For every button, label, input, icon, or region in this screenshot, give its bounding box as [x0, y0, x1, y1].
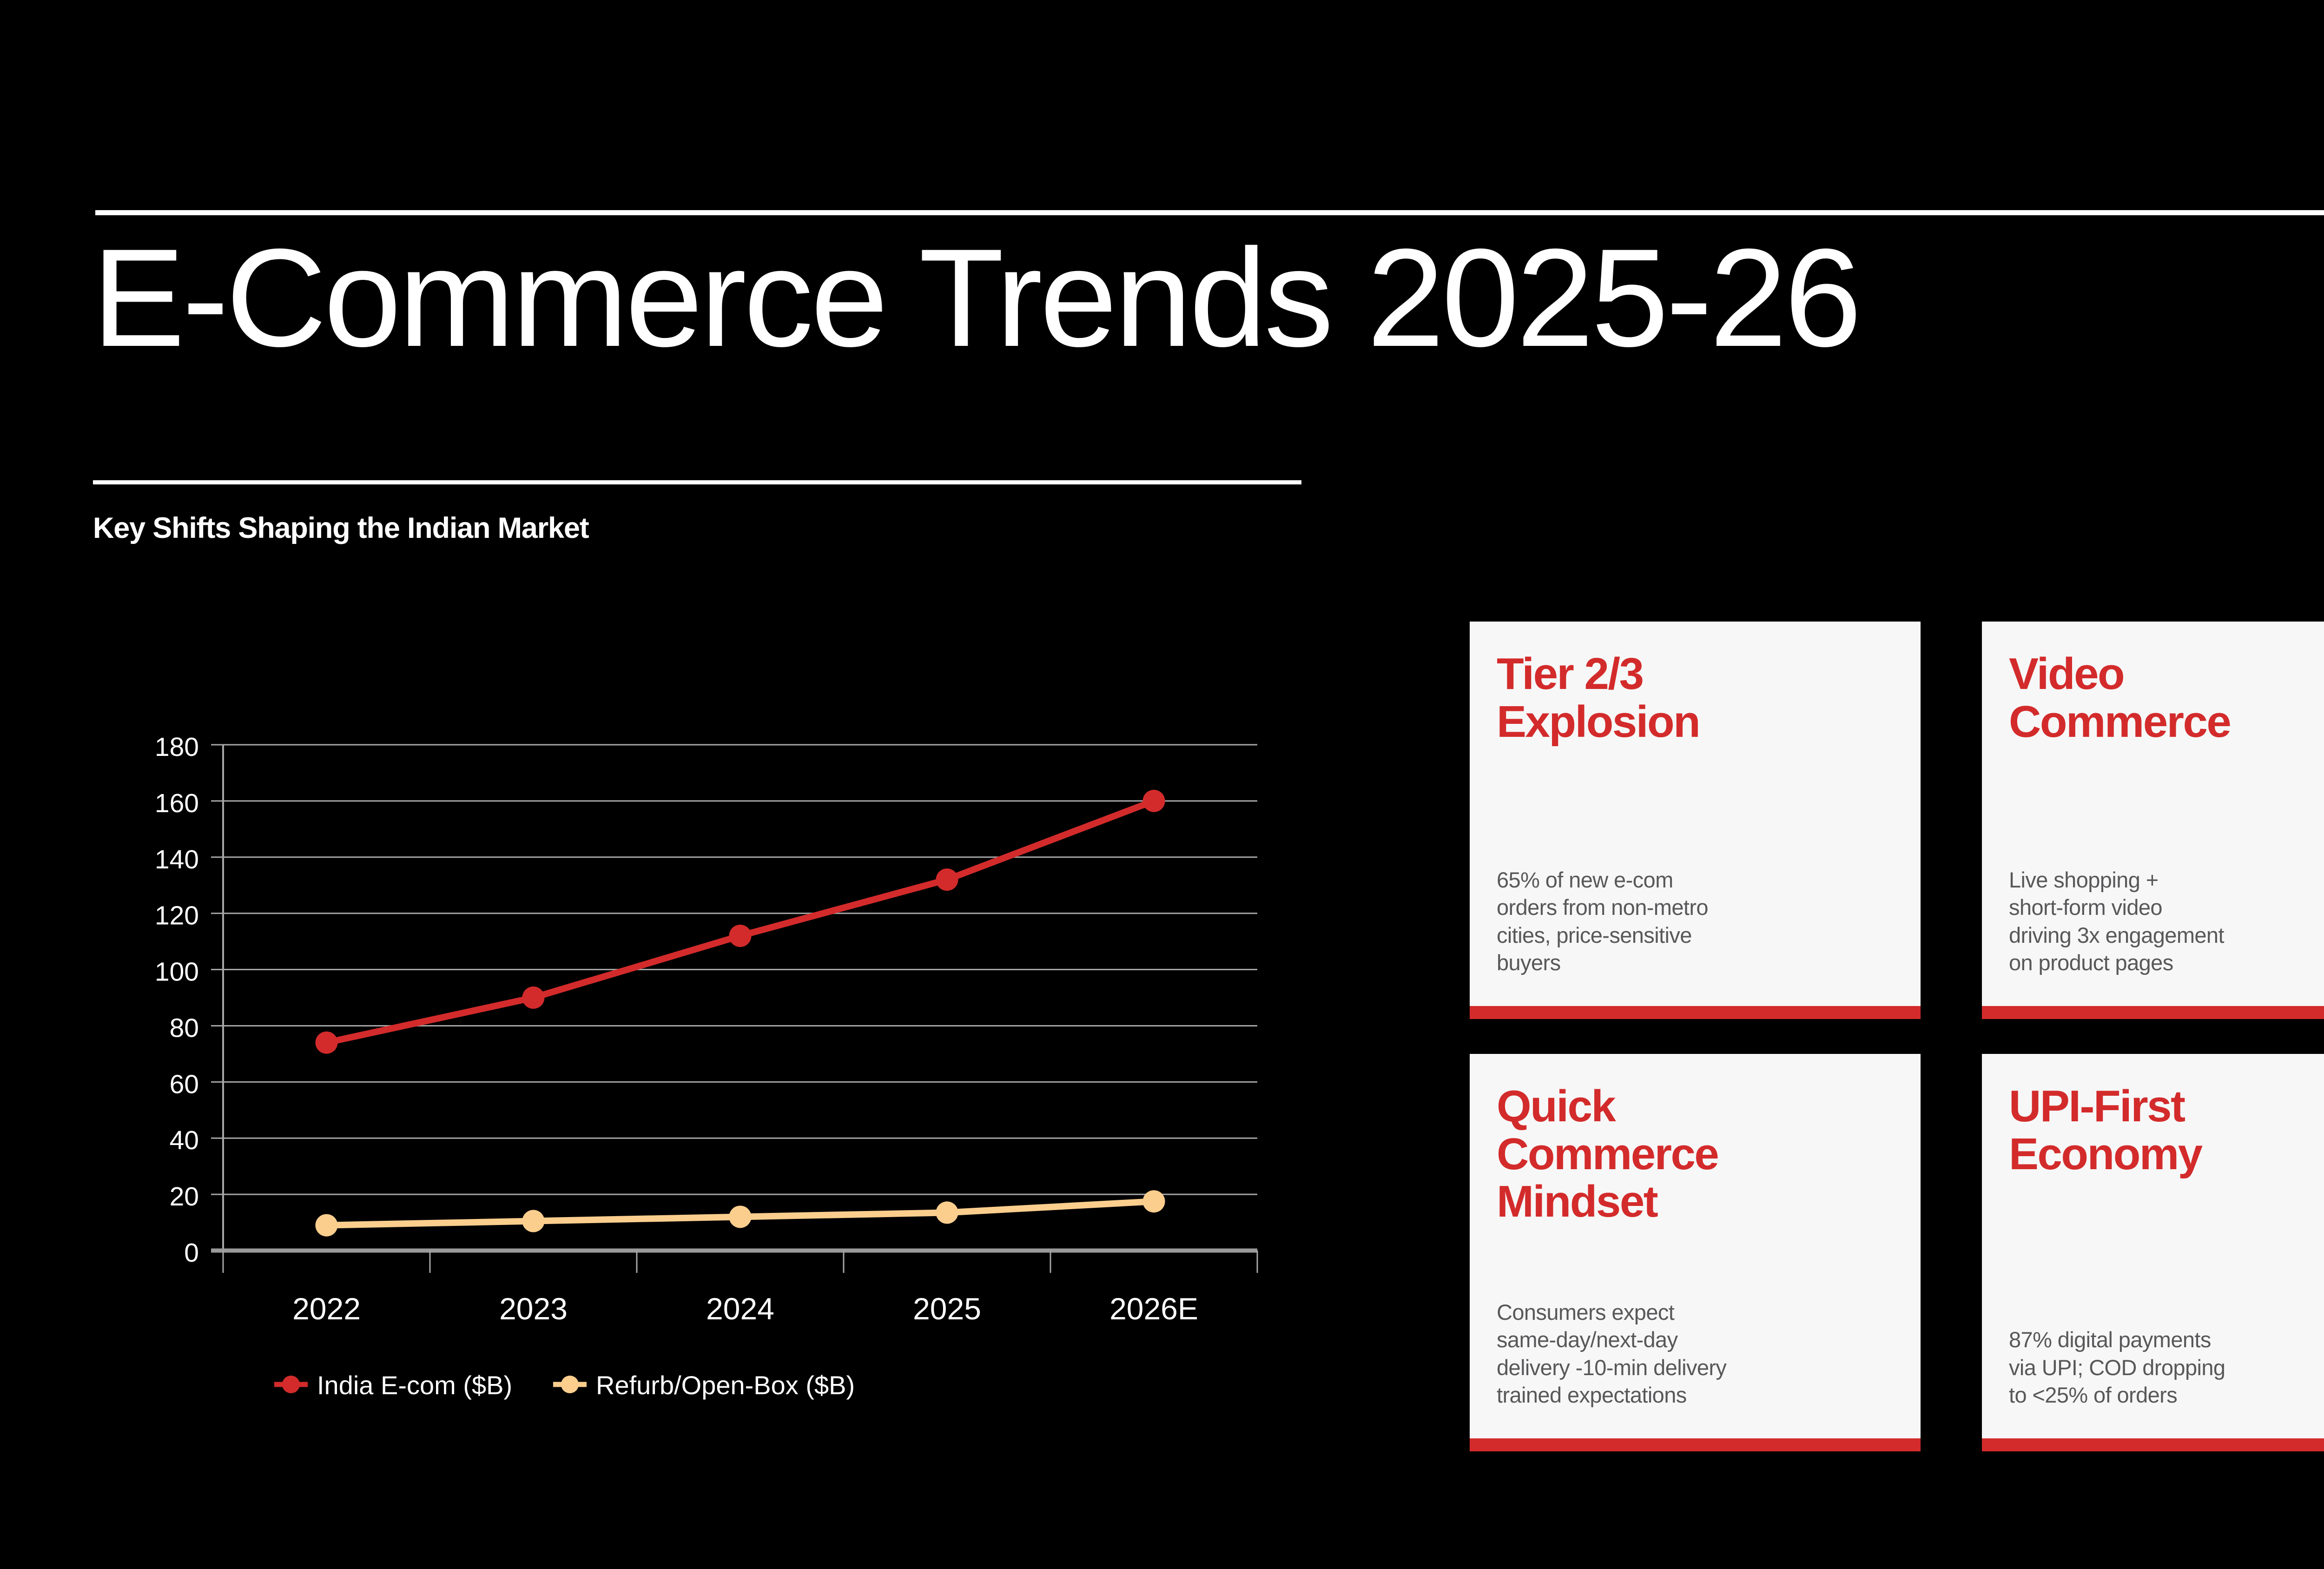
data-point: [1143, 1190, 1165, 1212]
y-axis-tick-label: 40: [170, 1125, 199, 1155]
data-point: [316, 1032, 338, 1054]
y-axis-tick-label: 180: [155, 732, 199, 762]
trend-card-video-commerce[interactable]: Video Commerce Live shopping + short-for…: [1982, 622, 2324, 1019]
y-axis-tick-label: 20: [170, 1182, 199, 1212]
legend-label: Refurb/Open-Box ($B): [596, 1370, 855, 1400]
trend-card-quick-commerce-mindset[interactable]: Quick Commerce Mindset Consumers expect …: [1470, 1054, 1921, 1451]
card-body: Consumers expect same-day/next-day deliv…: [1497, 1298, 1894, 1409]
legend-swatch-marker: [561, 1376, 579, 1393]
y-axis-tick-label: 120: [155, 901, 199, 931]
page-subtitle: Key Shifts Shaping the Indian Market: [93, 511, 588, 545]
header-top-rule: [95, 210, 2324, 215]
y-axis-tick-label: 0: [184, 1238, 199, 1268]
x-axis-tick-label: 2025: [913, 1291, 981, 1326]
y-axis-tick-label: 160: [155, 788, 199, 818]
trend-cards-grid: Tier 2/3 Explosion 65% of new e-com orde…: [1470, 622, 2324, 1454]
trend-card-upi-first-economy[interactable]: UPI-First Economy 87% digital payments v…: [1982, 1054, 2324, 1451]
data-point: [522, 986, 545, 1009]
x-axis-tick-label: 2023: [499, 1291, 568, 1326]
y-axis-tick-label: 60: [170, 1069, 199, 1099]
chart-svg: 0204060801001201401601802022202320242025…: [84, 711, 1339, 1437]
slide-header: E-Commerce Trends 2025-26 Key Shifts Sha…: [0, 0, 2324, 586]
data-point: [936, 868, 958, 891]
data-point: [316, 1214, 338, 1237]
card-accent-bar: [1982, 1438, 2324, 1451]
card-body: Live shopping + short-form video driving…: [2009, 866, 2324, 976]
market-growth-line-chart: 0204060801001201401601802022202320242025…: [84, 711, 1339, 1437]
x-axis-tick-label: 2022: [292, 1291, 361, 1326]
card-body: 87% digital payments via UPI; COD droppi…: [2009, 1326, 2324, 1409]
x-axis-tick-label: 2024: [706, 1291, 774, 1326]
header-subtitle-rule: [93, 480, 1301, 484]
trend-card-tier-2-3-explosion[interactable]: Tier 2/3 Explosion 65% of new e-com orde…: [1470, 622, 1921, 1019]
card-accent-bar: [1982, 1006, 2324, 1019]
x-axis-tick-label: 2026E: [1109, 1291, 1198, 1326]
card-title: UPI-First Economy: [2009, 1083, 2324, 1178]
data-point: [1143, 790, 1165, 812]
y-axis-tick-label: 140: [155, 845, 199, 874]
card-title: Video Commerce: [2009, 650, 2324, 746]
data-point: [729, 925, 752, 947]
card-accent-bar: [1470, 1438, 1921, 1451]
y-axis-tick-label: 100: [155, 957, 199, 987]
data-point: [522, 1210, 545, 1232]
card-body: 65% of new e-com orders from non-metro c…: [1497, 866, 1894, 976]
data-point: [729, 1205, 752, 1228]
series-line-0: [327, 801, 1154, 1043]
card-accent-bar: [1470, 1006, 1921, 1019]
legend-label: India E-com ($B): [317, 1370, 512, 1400]
legend-swatch-marker: [282, 1376, 300, 1393]
card-title: Tier 2/3 Explosion: [1497, 650, 1894, 746]
y-axis-tick-label: 80: [170, 1013, 199, 1043]
card-title: Quick Commerce Mindset: [1497, 1083, 1894, 1226]
data-point: [936, 1201, 958, 1224]
page-title: E-Commerce Trends 2025-26: [92, 228, 1859, 367]
